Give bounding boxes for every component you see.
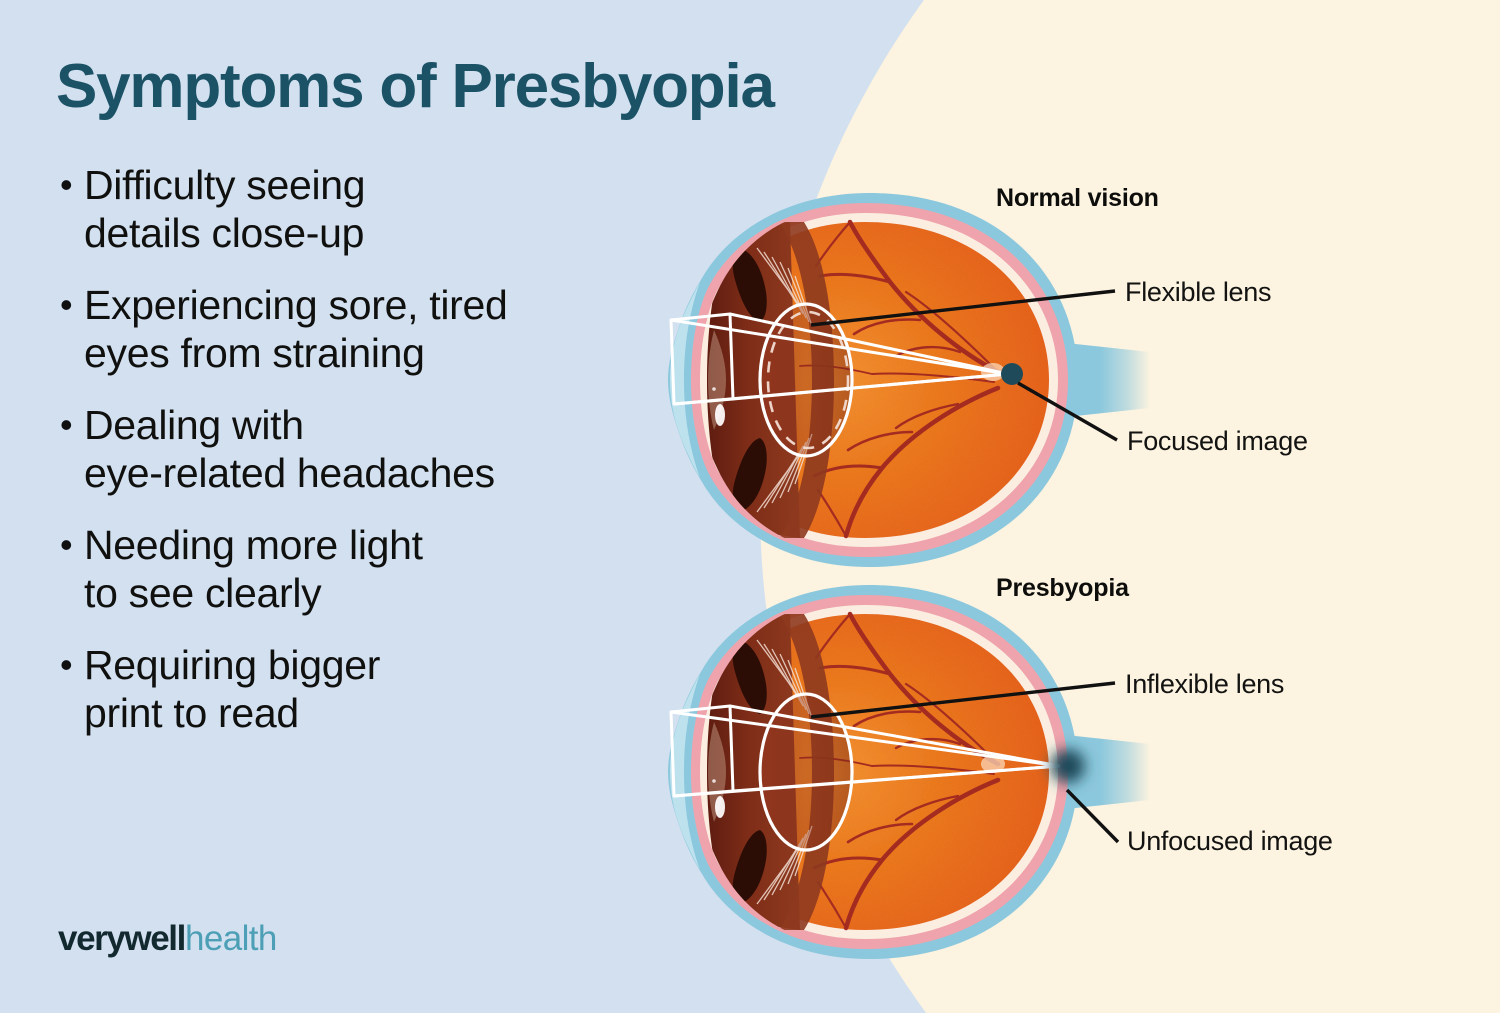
unfocused-image-point [1051, 749, 1085, 783]
section-heading-normal-vision: Normal vision [996, 184, 1159, 213]
aqueous-highlight-normal [715, 404, 725, 426]
eye-normal-vision [668, 193, 1150, 567]
callout-inflexible-lens: Inflexible lens [1125, 669, 1284, 700]
lens-normal [760, 304, 852, 456]
callout-flexible-lens: Flexible lens [1125, 277, 1271, 308]
eye-presbyopia [668, 585, 1150, 959]
aqueous-highlight-presbyopia [715, 796, 725, 818]
section-heading-presbyopia: Presbyopia [996, 574, 1129, 603]
callout-focused-image: Focused image [1127, 426, 1308, 457]
infographic-canvas: Symptoms of Presbyopia • Difficulty seei… [0, 0, 1500, 1013]
callout-unfocused-image: Unfocused image [1127, 826, 1333, 857]
focused-image-point [1001, 363, 1023, 385]
lens-presbyopia [760, 694, 852, 850]
eye-diagram [0, 0, 1500, 1013]
